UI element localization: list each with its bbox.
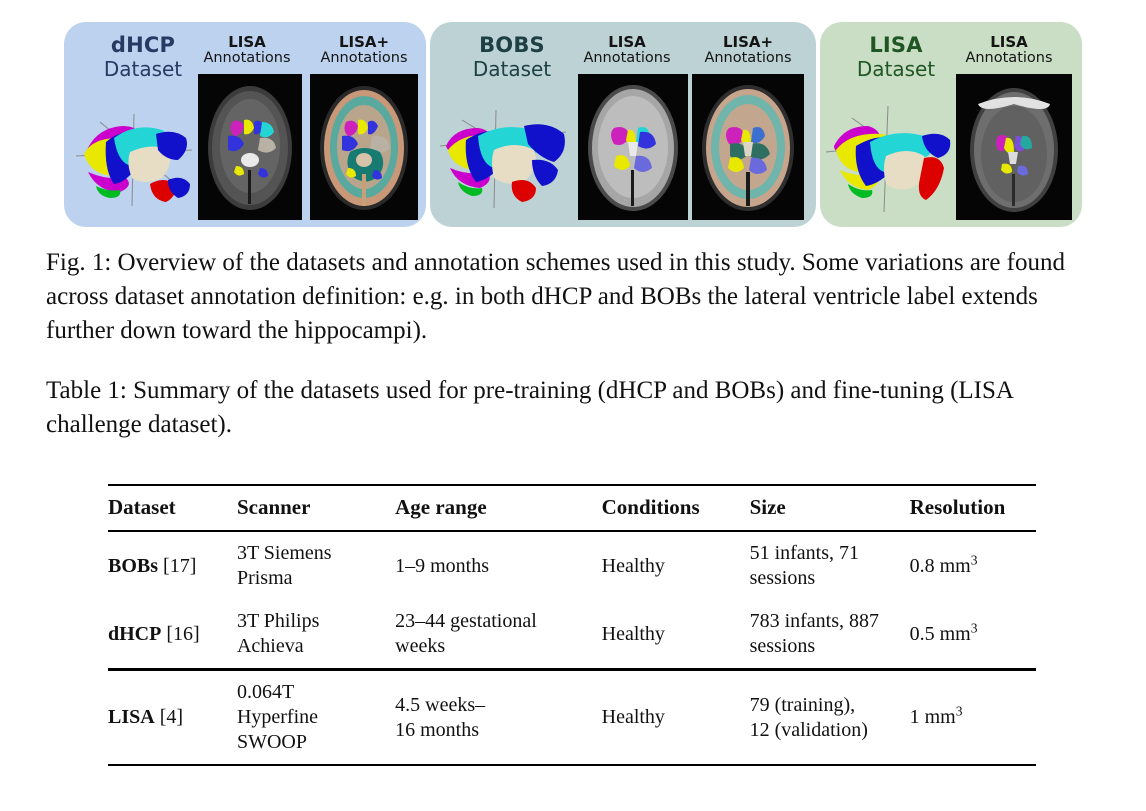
annotation-name-bobs-lisa: LISA xyxy=(572,34,682,51)
cell-conditions: Healthy xyxy=(602,600,750,670)
column-header-age-range: Age range xyxy=(395,486,602,531)
cell-age-range: 4.5 weeks– 16 months xyxy=(395,670,602,766)
annotation-title-dhcp-lisa: LISA Annotations xyxy=(192,34,302,66)
cell-size: 783 infants, 887 sessions xyxy=(750,600,910,670)
table-header-row: Dataset Scanner Age range Conditions Siz… xyxy=(108,486,1036,531)
column-header-dataset: Dataset xyxy=(108,486,237,531)
brain-3d-render-lisa xyxy=(824,96,956,218)
table-caption: Table 1: Summary of the datasets used fo… xyxy=(46,374,1102,442)
annotation-label-lisa-lisa: Annotations xyxy=(950,51,1068,67)
cell-scanner: 0.064T Hyperfine SWOOP xyxy=(237,670,395,766)
dataset-label-dhcp: Dataset xyxy=(78,58,208,80)
cell-size: 79 (training), 12 (validation) xyxy=(750,670,910,766)
dataset-title-bobs: BOBS Dataset xyxy=(446,34,578,80)
cell-dataset: LISA [4] xyxy=(108,670,237,766)
cell-conditions: Healthy xyxy=(602,670,750,766)
cell-scanner: 3T Siemens Prisma xyxy=(237,531,395,600)
table-row: dHCP [16] 3T Philips Achieva 23–44 gesta… xyxy=(108,600,1036,670)
annotation-label-bobs-lisaplus: Annotations xyxy=(692,51,804,67)
table-row: LISA [4] 0.064T Hyperfine SWOOP 4.5 week… xyxy=(108,670,1036,766)
cell-dataset: BOBs [17] xyxy=(108,531,237,600)
column-header-scanner: Scanner xyxy=(237,486,395,531)
brain-3d-render-bobs xyxy=(436,98,572,218)
cell-dataset: dHCP [16] xyxy=(108,600,237,670)
annotation-name-dhcp-lisa: LISA xyxy=(192,34,302,51)
annotation-label-bobs-lisa: Annotations xyxy=(572,51,682,67)
annotation-name-lisa-lisa: LISA xyxy=(950,34,1068,51)
dataset-label-lisa: Dataset xyxy=(832,58,960,80)
cell-resolution: 0.5 mm3 xyxy=(910,600,1036,670)
column-header-size: Size xyxy=(750,486,910,531)
dataset-name: BOBs xyxy=(108,555,158,577)
dataset-reference: [16] xyxy=(166,623,199,645)
annotation-title-bobs-lisaplus: LISA+ Annotations xyxy=(692,34,804,66)
dataset-title-lisa: LISA Dataset xyxy=(832,34,960,80)
datasets-summary-table: Dataset Scanner Age range Conditions Siz… xyxy=(108,484,1036,766)
mri-slice-lisa-lisa xyxy=(956,74,1072,220)
dataset-reference: [17] xyxy=(163,555,196,577)
dataset-name-bobs: BOBS xyxy=(446,34,578,58)
annotation-label-dhcp-lisaplus: Annotations xyxy=(308,51,420,67)
mri-slice-dhcp-lisa xyxy=(198,74,302,220)
cell-age-range: 23–44 gestational weeks xyxy=(395,600,602,670)
column-header-conditions: Conditions xyxy=(602,486,750,531)
dataset-name-lisa: LISA xyxy=(832,34,960,58)
dataset-title-dhcp: dHCP Dataset xyxy=(78,34,208,80)
dataset-panel-dhcp: dHCP Dataset LISA Annotations LISA+ Anno… xyxy=(64,22,426,227)
dataset-panel-bobs: BOBS Dataset LISA Annotations LISA+ Anno… xyxy=(430,22,816,227)
dataset-name: LISA xyxy=(108,706,155,728)
annotation-title-dhcp-lisaplus: LISA+ Annotations xyxy=(308,34,420,66)
brain-3d-render-dhcp xyxy=(70,94,198,218)
column-header-resolution: Resolution xyxy=(910,486,1036,531)
cell-size: 51 infants, 71 sessions xyxy=(750,531,910,600)
annotation-name-bobs-lisaplus: LISA+ xyxy=(692,34,804,51)
annotation-title-bobs-lisa: LISA Annotations xyxy=(572,34,682,66)
annotation-label-dhcp-lisa: Annotations xyxy=(192,51,302,67)
dataset-label-bobs: Dataset xyxy=(446,58,578,80)
figure-panel-row: dHCP Dataset LISA Annotations LISA+ Anno… xyxy=(0,0,1146,238)
figure-caption: Fig. 1: Overview of the datasets and ann… xyxy=(46,246,1102,348)
mri-slice-bobs-lisa xyxy=(578,74,688,220)
mri-slice-dhcp-lisaplus xyxy=(310,74,418,220)
dataset-name: dHCP xyxy=(108,623,161,645)
cell-conditions: Healthy xyxy=(602,531,750,600)
cell-age-range: 1–9 months xyxy=(395,531,602,600)
dataset-panel-lisa: LISA Dataset LISA Annotations xyxy=(820,22,1082,227)
table-row: BOBs [17] 3T Siemens Prisma 1–9 months H… xyxy=(108,531,1036,600)
cell-resolution: 0.8 mm3 xyxy=(910,531,1036,600)
annotation-title-lisa-lisa: LISA Annotations xyxy=(950,34,1068,66)
cell-resolution: 1 mm3 xyxy=(910,670,1036,766)
mri-slice-bobs-lisaplus xyxy=(692,74,804,220)
annotation-name-dhcp-lisaplus: LISA+ xyxy=(308,34,420,51)
dataset-reference: [4] xyxy=(160,706,183,728)
cell-scanner: 3T Philips Achieva xyxy=(237,600,395,670)
dataset-name-dhcp: dHCP xyxy=(78,34,208,58)
